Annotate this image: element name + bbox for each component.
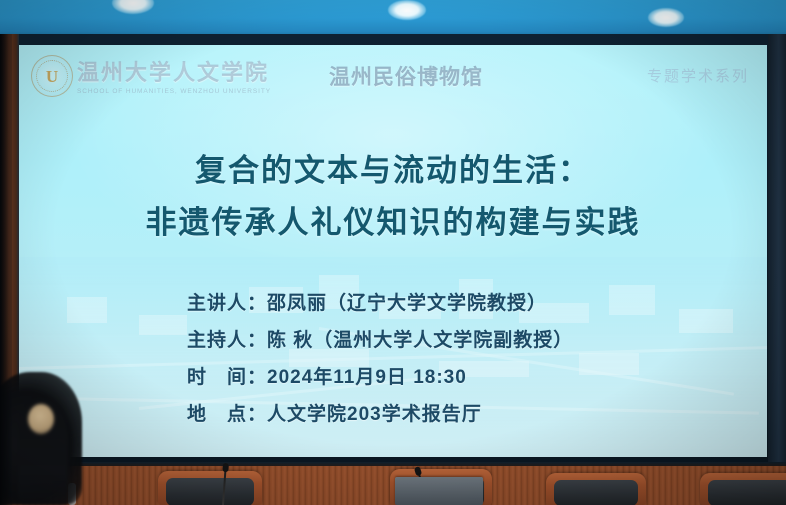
audience-silhouette (0, 372, 82, 505)
university-seal-icon: U (31, 55, 73, 97)
ceiling-light-icon (388, 0, 426, 20)
slide-header: U 温州大学人文学院 SCHOOL OF HUMANITIES, WENZHOU… (19, 51, 767, 99)
detail-location: 地 点：人文学院203学术报告厅 (187, 396, 707, 433)
detail-host: 主持人：陈 秋（温州大学人文学院副教授） (187, 322, 707, 359)
org-name-en: SCHOOL OF HUMANITIES, WENZHOU UNIVERSITY (77, 88, 271, 95)
ceiling-light-icon (112, 0, 154, 14)
podium-front-panel (0, 466, 786, 505)
detail-time: 时 间：2024年11月9日 18:30 (187, 359, 707, 396)
museum-name: 温州民俗博物馆 (329, 61, 483, 91)
chair (700, 473, 786, 505)
chair (158, 471, 262, 505)
projection-screen: U 温州大学人文学院 SCHOOL OF HUMANITIES, WENZHOU… (19, 45, 767, 457)
detail-speaker: 主讲人：邵凤丽（辽宁大学文学院教授） (187, 285, 707, 322)
ceiling-light-icon (648, 8, 684, 27)
organization-wordmark: 温州大学人文学院 SCHOOL OF HUMANITIES, WENZHOU U… (77, 55, 271, 95)
slide-details: 主讲人：邵凤丽（辽宁大学文学院教授） 主持人：陈 秋（温州大学人文学院副教授） … (187, 285, 707, 433)
right-wall-panel (768, 34, 786, 472)
slide-title: 复合的文本与流动的生活： 非遗传承人礼仪知识的构建与实践 (19, 145, 767, 249)
title-line-2: 非遗传承人礼仪知识的构建与实践 (19, 197, 767, 249)
chair (546, 473, 646, 505)
title-line-1: 复合的文本与流动的生活： (19, 145, 767, 197)
left-edge-shadow (0, 34, 12, 505)
series-label: 专题学术系列 (647, 65, 749, 86)
laptop (395, 477, 483, 505)
org-name-cn: 温州大学人文学院 (77, 55, 271, 87)
lecture-hall-photo: U 温州大学人文学院 SCHOOL OF HUMANITIES, WENZHOU… (0, 0, 786, 505)
